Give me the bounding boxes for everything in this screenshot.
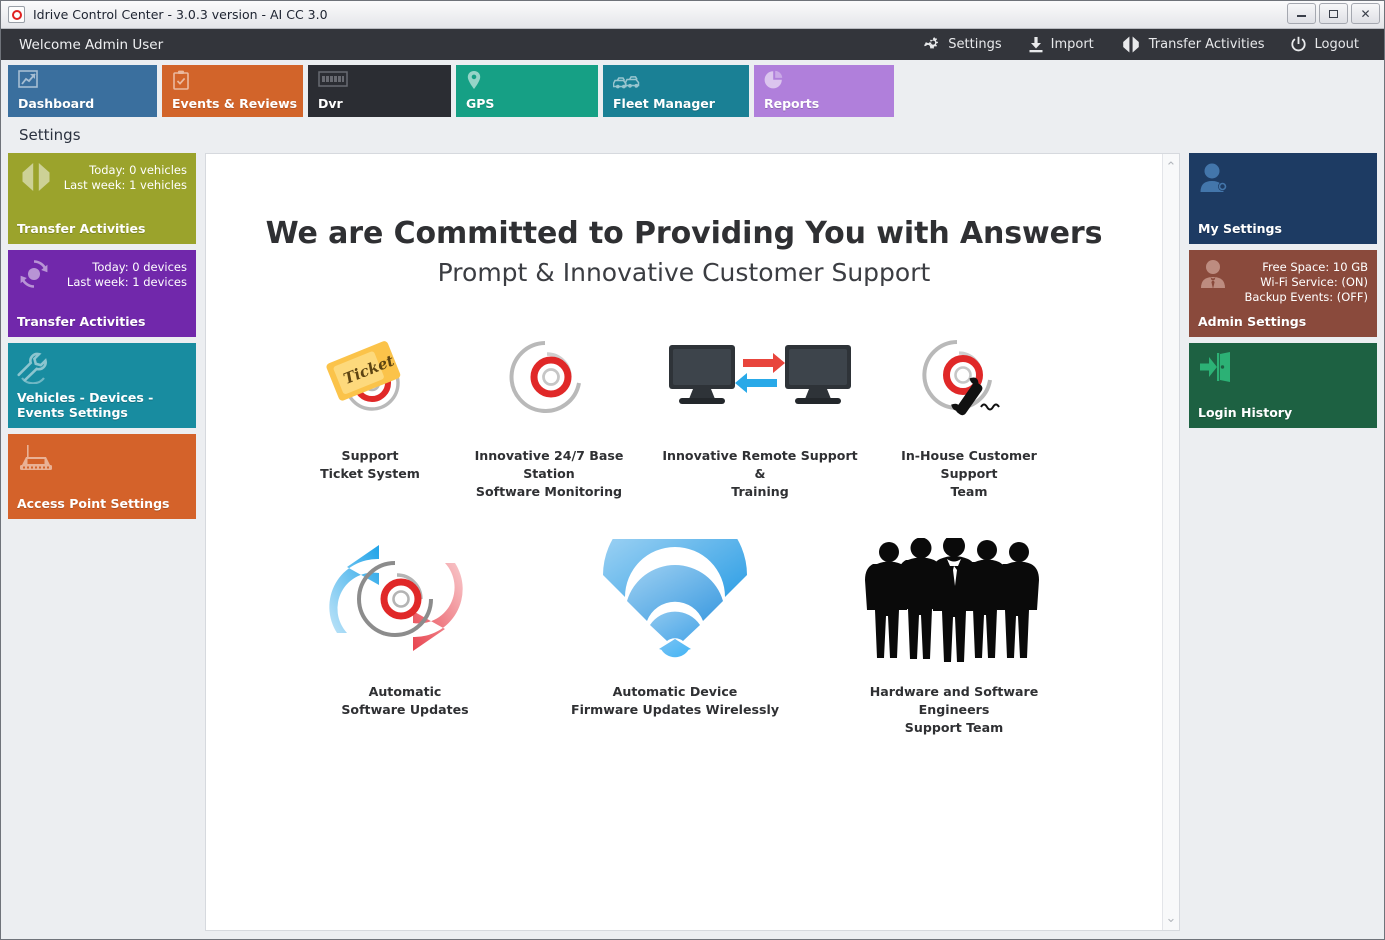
left-sidebar: Today: 0 vehicles Last week: 1 vehicles …	[8, 153, 196, 931]
content-scroll-region: We are Committed to Providing You with A…	[206, 154, 1162, 930]
nav-tab-events-reviews-label: Events & Reviews	[172, 96, 295, 111]
power-icon	[1290, 36, 1307, 53]
top-action-bar: Welcome Admin User Settings	[1, 29, 1384, 60]
sidebar-tile-transfer-vehicles-stats: Today: 0 vehicles Last week: 1 vehicles	[64, 162, 187, 193]
settings-button[interactable]: Settings	[908, 29, 1014, 60]
target-logo-icon	[8, 6, 25, 23]
remote-screens-icon	[665, 329, 855, 425]
right-sidebar: My Settings Free Space: 10 GB Wi	[1189, 153, 1377, 931]
close-icon[interactable]: ✕	[1351, 3, 1380, 24]
import-button[interactable]: Import	[1015, 29, 1107, 60]
support-ticket-icon: Ticket	[322, 329, 418, 425]
sidebar-tile-login-history[interactable]: Login History	[1189, 343, 1377, 428]
sidebar-tile-admin-settings-label: Admin Settings	[1198, 314, 1368, 329]
download-icon	[1028, 36, 1044, 53]
transfer-activities-label: Transfer Activities	[1149, 37, 1265, 52]
feature-row-2: Automatic Software Updates	[246, 535, 1122, 737]
stat-line: Last week: 1 vehicles	[64, 178, 187, 193]
clipboard-check-icon	[172, 70, 295, 95]
sidebar-tile-transfer-devices-label: Transfer Activities	[17, 314, 187, 329]
welcome-message: Welcome Admin User	[19, 37, 163, 53]
nav-tab-fleet-manager-label: Fleet Manager	[613, 96, 741, 111]
promo-headline: We are Committed to Providing You with A…	[246, 216, 1122, 251]
content-panel: We are Committed to Providing You with A…	[205, 153, 1180, 931]
promo-section: We are Committed to Providing You with A…	[206, 154, 1162, 757]
feature-caption: Automatic Software Updates	[341, 683, 468, 719]
gears-icon	[921, 36, 941, 54]
pie-chart-icon	[764, 70, 886, 95]
wrench-icon	[17, 352, 51, 389]
feature-engineers-support-team: Hardware and Software Engineers Support …	[830, 535, 1078, 737]
feature-caption: In-House Customer Support Team	[874, 447, 1064, 501]
feature-caption: Support Ticket System	[320, 447, 420, 483]
chevron-up-icon[interactable]: ⌃	[1166, 160, 1177, 173]
software-update-icon	[315, 535, 495, 665]
transfer-arrows-icon	[17, 162, 55, 197]
main-navigation: Dashboard Events & Reviews	[1, 60, 1384, 117]
sidebar-tile-login-history-label: Login History	[1198, 405, 1368, 420]
sidebar-tile-transfer-vehicles[interactable]: Today: 0 vehicles Last week: 1 vehicles …	[8, 153, 196, 244]
stat-line: Backup Events: (OFF)	[1244, 290, 1368, 305]
nav-tab-reports-label: Reports	[764, 96, 886, 111]
sidebar-tile-access-point-settings[interactable]: Access Point Settings	[8, 434, 196, 519]
breadcrumb: Settings	[19, 126, 81, 144]
chart-line-icon	[18, 70, 149, 95]
sidebar-tile-vehicles-devices-events-label: Vehicles - Devices - Events Settings	[17, 390, 187, 420]
title-bar: Idrive Control Center - 3.0.3 version - …	[1, 1, 1384, 29]
sidebar-tile-admin-settings-stats: Free Space: 10 GB Wi-Fi Service: (ON) Ba…	[1244, 259, 1368, 305]
feature-automatic-software-updates: Automatic Software Updates	[290, 535, 520, 737]
nav-tab-fleet-manager[interactable]: Fleet Manager	[603, 65, 749, 117]
minimize-icon[interactable]	[1287, 3, 1316, 24]
vehicles-icon	[613, 70, 741, 94]
stat-line: Today: 0 vehicles	[64, 163, 187, 178]
stat-line: Today: 0 devices	[67, 260, 187, 275]
feature-in-house-support-team: In-House Customer Support Team	[866, 329, 1072, 501]
feature-base-station-monitoring: Innovative 24/7 Base Station Software Mo…	[444, 329, 654, 501]
sidebar-tile-transfer-vehicles-label: Transfer Activities	[17, 221, 187, 236]
top-action-group: Settings Import	[908, 29, 1372, 60]
stat-line: Free Space: 10 GB	[1244, 260, 1368, 275]
login-door-icon	[1198, 352, 1232, 387]
sidebar-tile-my-settings-label: My Settings	[1198, 221, 1368, 236]
nav-tab-dashboard-label: Dashboard	[18, 96, 149, 111]
transfer-activities-button[interactable]: Transfer Activities	[1107, 29, 1278, 60]
feature-caption: Innovative 24/7 Base Station Software Mo…	[452, 447, 646, 501]
wifi-icon	[595, 535, 755, 665]
maximize-icon[interactable]	[1319, 3, 1348, 24]
sidebar-tile-access-point-settings-label: Access Point Settings	[17, 496, 187, 511]
map-pin-icon	[466, 70, 590, 95]
target-phone-icon	[921, 329, 1017, 425]
nav-tab-dvr[interactable]: Dvr	[308, 65, 451, 117]
window-controls: ✕	[1287, 3, 1380, 24]
feature-device-firmware-updates: Automatic Device Firmware Updates Wirele…	[520, 535, 830, 737]
nav-tab-gps[interactable]: GPS	[456, 65, 598, 117]
feature-support-ticket-system: Ticket Support Ticket System	[296, 329, 444, 501]
admin-user-icon	[1198, 259, 1228, 294]
target-monitoring-icon	[507, 329, 591, 425]
sidebar-tile-my-settings[interactable]: My Settings	[1189, 153, 1377, 244]
logout-button[interactable]: Logout	[1277, 29, 1372, 60]
feature-caption: Innovative Remote Support & Training	[662, 447, 858, 501]
breadcrumb-bar: Settings	[1, 117, 1384, 153]
sidebar-tile-transfer-devices-stats: Today: 0 devices Last week: 1 devices	[67, 259, 187, 290]
import-label: Import	[1051, 37, 1094, 52]
window-title: Idrive Control Center - 3.0.3 version - …	[33, 7, 328, 22]
nav-tab-reports[interactable]: Reports	[754, 65, 894, 117]
dvr-device-icon	[318, 70, 443, 93]
body-area: Today: 0 vehicles Last week: 1 vehicles …	[1, 153, 1384, 939]
feature-row-1: Ticket Support Ticket System	[246, 329, 1122, 501]
nav-tab-dvr-label: Dvr	[318, 96, 443, 111]
feature-remote-support-training: Innovative Remote Support & Training	[654, 329, 866, 501]
team-silhouette-icon	[859, 535, 1049, 665]
stat-line: Wi-Fi Service: (ON)	[1244, 275, 1368, 290]
transfer-arrows-icon	[1120, 36, 1142, 53]
feature-caption: Hardware and Software Engineers Support …	[838, 683, 1070, 737]
sidebar-tile-admin-settings[interactable]: Free Space: 10 GB Wi-Fi Service: (ON) Ba…	[1189, 250, 1377, 337]
feature-caption: Automatic Device Firmware Updates Wirele…	[571, 683, 779, 719]
application-window: Idrive Control Center - 3.0.3 version - …	[0, 0, 1385, 940]
router-icon	[17, 443, 55, 478]
content-scrollbar[interactable]: ⌃ ⌄	[1162, 154, 1179, 930]
chevron-down-icon[interactable]: ⌄	[1166, 911, 1177, 924]
nav-tab-dashboard[interactable]: Dashboard	[8, 65, 157, 117]
nav-tab-events-reviews[interactable]: Events & Reviews	[162, 65, 303, 117]
nav-tab-gps-label: GPS	[466, 96, 590, 111]
logout-label: Logout	[1314, 37, 1359, 52]
user-settings-icon	[1198, 162, 1232, 199]
promo-subhead: Prompt & Innovative Customer Support	[246, 258, 1122, 287]
sidebar-tile-transfer-devices[interactable]: Today: 0 devices Last week: 1 devices Tr…	[8, 250, 196, 337]
device-sync-icon	[17, 259, 51, 294]
stat-line: Last week: 1 devices	[67, 275, 187, 290]
settings-label: Settings	[948, 37, 1001, 52]
sidebar-tile-vehicles-devices-events[interactable]: Vehicles - Devices - Events Settings	[8, 343, 196, 428]
